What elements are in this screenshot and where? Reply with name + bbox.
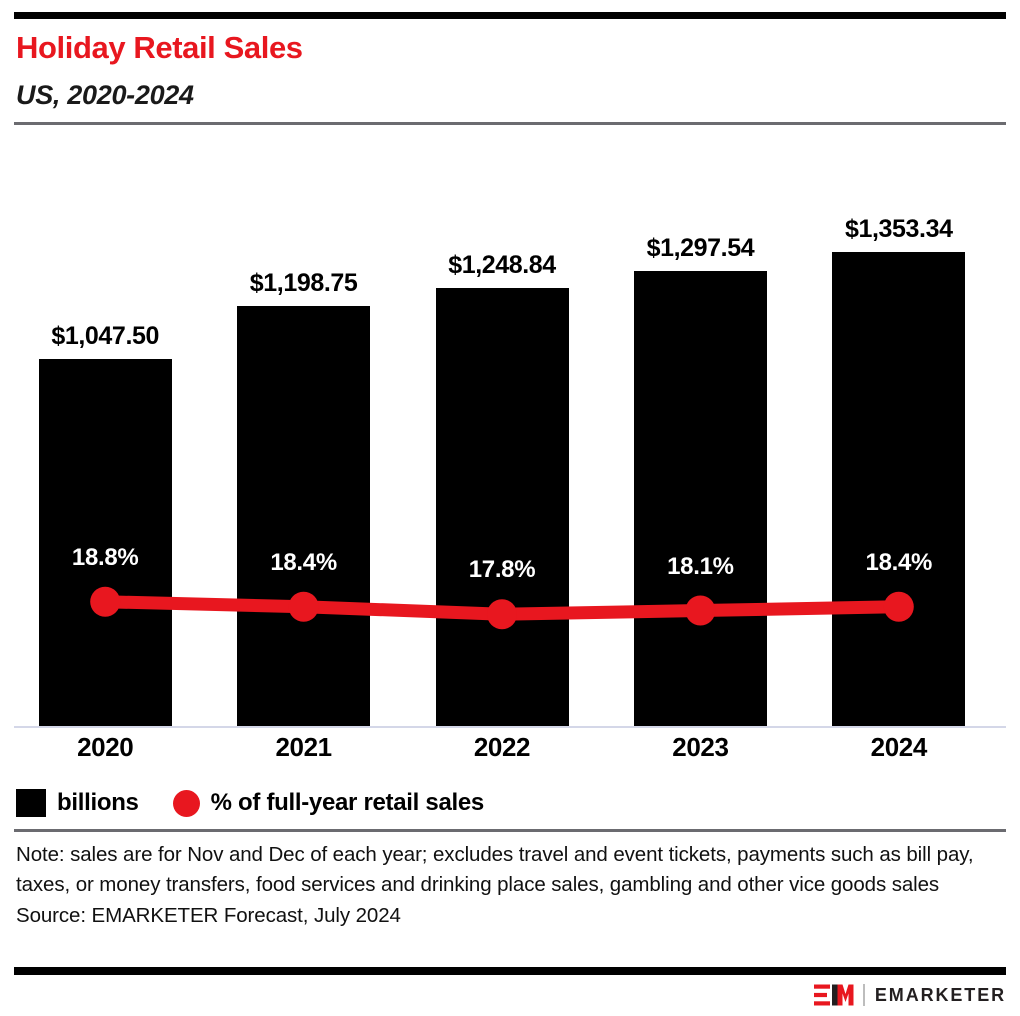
percent-value-label: 18.4% bbox=[203, 549, 404, 577]
source-text: Source: EMARKETER Forecast, July 2024 bbox=[16, 901, 976, 931]
percent-trend-line-layer bbox=[14, 140, 1006, 728]
x-axis-tick-label: 2022 bbox=[402, 732, 603, 763]
logo-divider bbox=[863, 984, 865, 1006]
notes-divider bbox=[14, 829, 1006, 832]
legend-circle-swatch-icon bbox=[173, 790, 200, 817]
note-text: Note: sales are for Nov and Dec of each … bbox=[16, 840, 976, 900]
x-axis-tick-label: 2020 bbox=[5, 732, 206, 763]
legend-item-label: billions bbox=[57, 789, 139, 817]
infographic-card: Holiday Retail Sales US, 2020-2024 $1,04… bbox=[0, 0, 1020, 1016]
top-divider bbox=[14, 12, 1006, 19]
page-title: Holiday Retail Sales bbox=[16, 30, 303, 66]
percent-data-point-marker[interactable] bbox=[289, 592, 319, 622]
percent-data-point-marker[interactable] bbox=[487, 599, 517, 629]
x-axis-tick-label: 2024 bbox=[798, 732, 999, 763]
legend-square-swatch-icon bbox=[16, 789, 46, 817]
footer-logo[interactable]: EMARKETER bbox=[814, 982, 1006, 1008]
x-axis-tick-label: 2023 bbox=[600, 732, 801, 763]
legend-item-label: % of full-year retail sales bbox=[211, 789, 484, 817]
notes-block: Note: sales are for Nov and Dec of each … bbox=[16, 840, 976, 931]
em-logo-mark-icon bbox=[814, 983, 854, 1007]
percent-data-point-marker[interactable] bbox=[685, 596, 715, 626]
x-axis-labels: 20202021202220232024 bbox=[14, 732, 1006, 768]
percent-value-label: 17.8% bbox=[402, 556, 603, 584]
chart-legend: billions % of full-year retail sales bbox=[16, 789, 518, 817]
header-divider bbox=[14, 122, 1006, 125]
bottom-divider bbox=[14, 967, 1006, 975]
brand-name: EMARKETER bbox=[875, 985, 1006, 1006]
percent-value-label: 18.4% bbox=[798, 549, 999, 577]
page-subtitle: US, 2020-2024 bbox=[16, 80, 194, 111]
percent-value-label: 18.1% bbox=[600, 553, 801, 581]
legend-item-percent-of-full-year-retail-sales[interactable]: % of full-year retail sales bbox=[173, 789, 484, 817]
percent-data-point-marker[interactable] bbox=[884, 592, 914, 622]
legend-item-billions[interactable]: billions bbox=[16, 789, 139, 817]
chart-plot-area: $1,047.50$1,198.75$1,248.84$1,297.54$1,3… bbox=[14, 140, 1006, 728]
x-axis-tick-label: 2021 bbox=[203, 732, 404, 763]
percent-data-point-marker[interactable] bbox=[90, 587, 120, 617]
percent-value-label: 18.8% bbox=[5, 544, 206, 572]
